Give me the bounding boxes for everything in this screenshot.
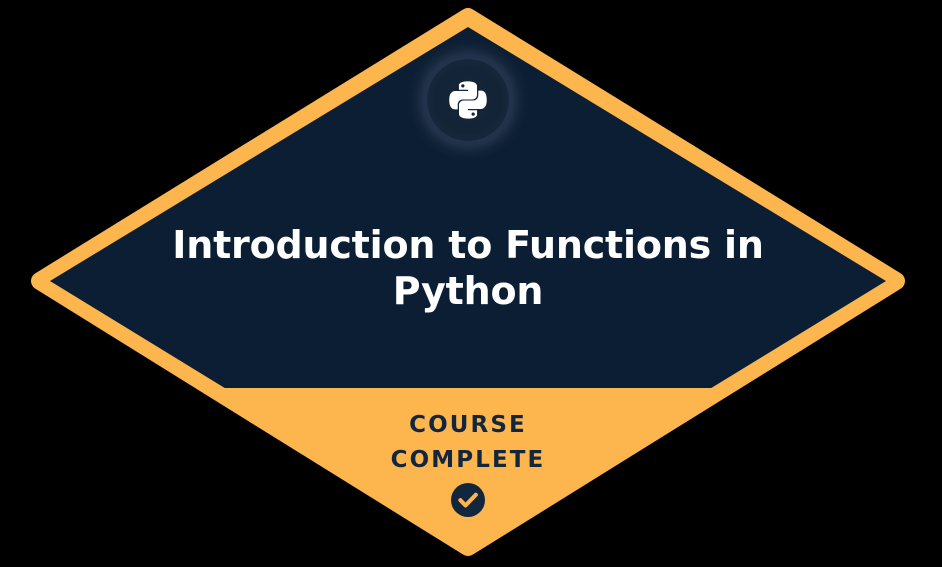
check-circle-icon (451, 483, 485, 517)
badge-canvas: Introduction to Functions in Python COUR… (0, 0, 942, 567)
badge-inner-body (0, 0, 942, 567)
logo-halo-inner (427, 59, 509, 141)
badge-graphic (0, 0, 942, 567)
